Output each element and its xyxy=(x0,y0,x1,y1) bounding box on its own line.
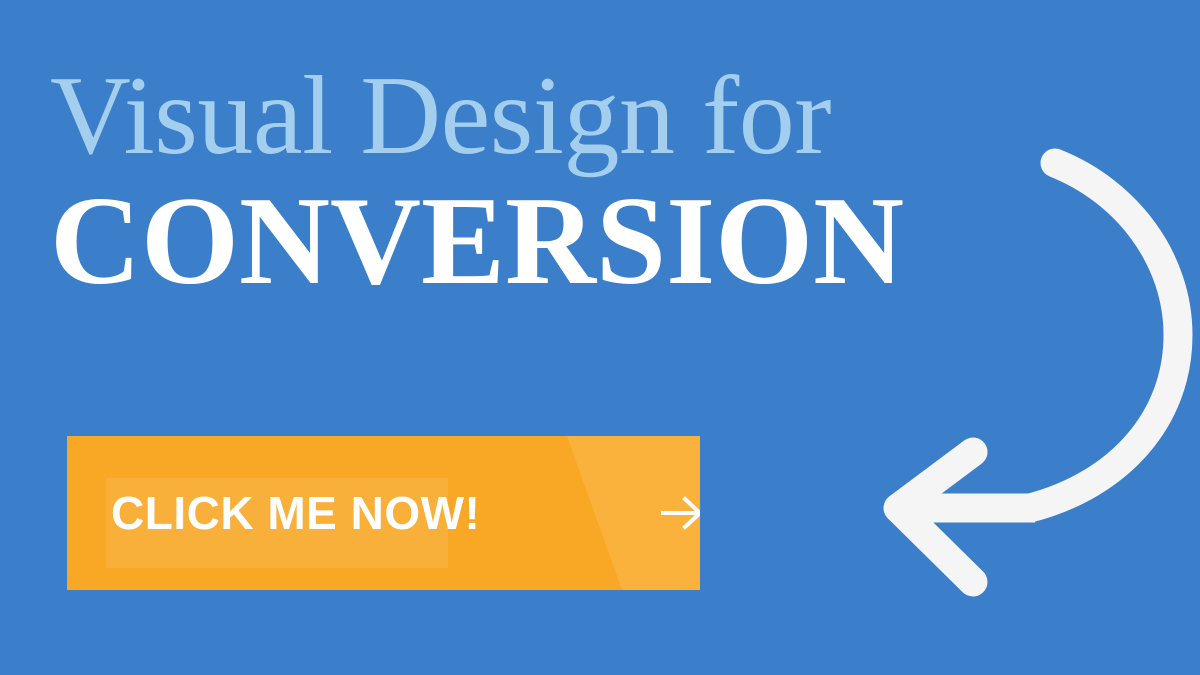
promo-banner: Visual Design for CONVERSION CLICK ME NO… xyxy=(0,0,1200,675)
headline-line-primary: Visual Design for xyxy=(50,60,1050,172)
button-diagonal-highlight xyxy=(510,436,700,590)
button-label: CLICK ME NOW! xyxy=(111,490,480,536)
arrow-right-icon xyxy=(661,493,700,533)
click-me-now-button[interactable]: CLICK ME NOW! xyxy=(67,436,700,590)
headline-block: Visual Design for CONVERSION xyxy=(50,60,1050,307)
headline-line-emphasis: CONVERSION xyxy=(50,178,1050,307)
